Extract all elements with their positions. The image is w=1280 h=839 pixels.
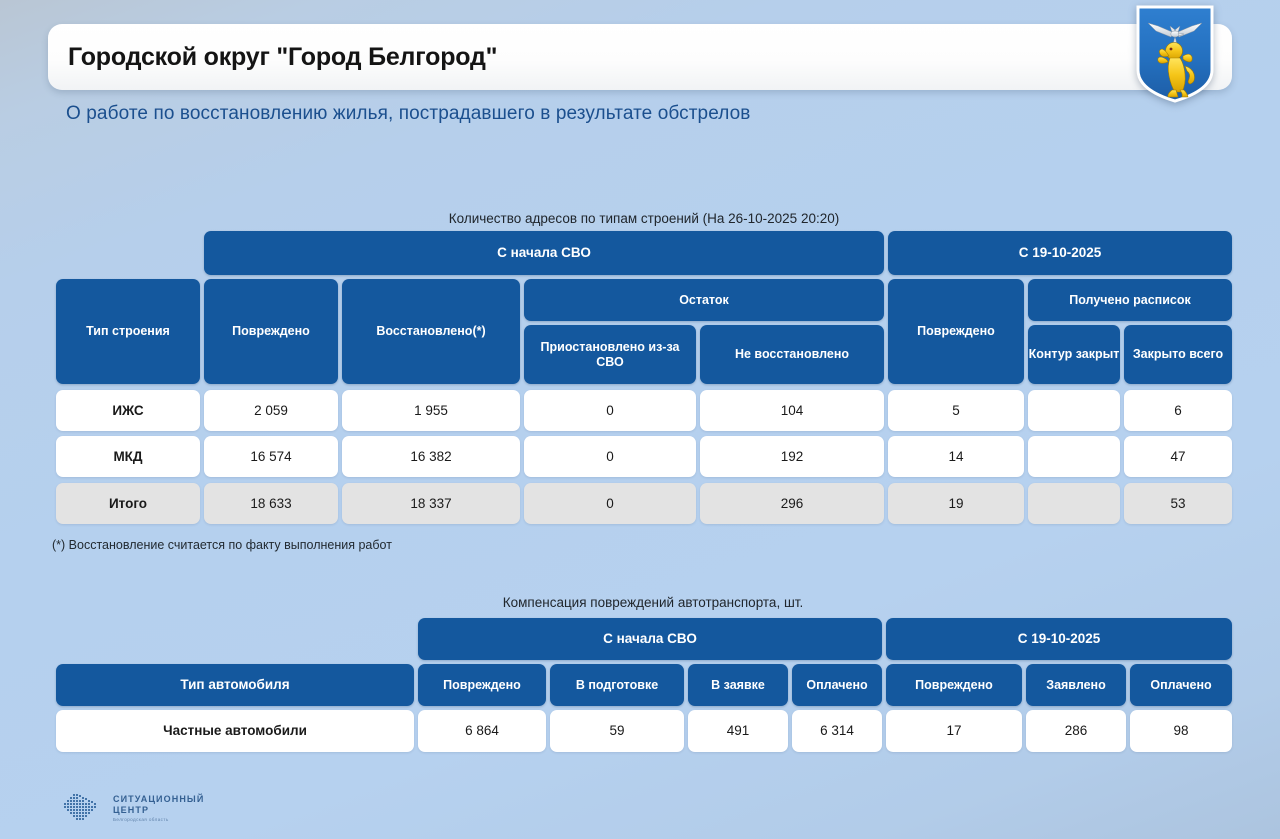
footer-logo-sub: Белгородская область xyxy=(113,817,204,822)
table-row: 18 337 xyxy=(342,483,520,524)
vehicles-table-caption: Компенсация повреждений автотранспорта, … xyxy=(470,595,836,610)
table-row: Частные автомобили xyxy=(56,710,414,752)
table-row: 47 xyxy=(1124,436,1232,477)
region-map-icon xyxy=(60,792,104,824)
buildings-col-damaged-recent: Повреждено xyxy=(888,279,1024,384)
table-row: 5 xyxy=(888,390,1024,431)
page-header-bar: Городской округ "Город Белгород" xyxy=(48,24,1232,90)
page-subtitle: О работе по восстановлению жилья, постра… xyxy=(66,100,826,128)
table-row: 104 xyxy=(700,390,884,431)
buildings-col-restored: Восстановлено(*) xyxy=(342,279,520,384)
table-row: 192 xyxy=(700,436,884,477)
table-row: 286 xyxy=(1026,710,1126,752)
buildings-table-caption: Количество адресов по типам строений (На… xyxy=(424,211,864,226)
vehicles-col-in-preparation: В подготовке xyxy=(550,664,684,706)
buildings-col-not-restored: Не восстановлено xyxy=(700,325,884,384)
table-row xyxy=(1028,483,1120,524)
footer-logo-line1: СИТУАЦИОННЫЙ xyxy=(113,794,204,805)
table-row xyxy=(1028,390,1120,431)
table-row: 6 xyxy=(1124,390,1232,431)
buildings-table-footnote: (*) Восстановление считается по факту вы… xyxy=(52,538,392,552)
buildings-col-suspended: Приостановлено из-за СВО xyxy=(524,325,696,384)
table-row: 296 xyxy=(700,483,884,524)
table-row: 0 xyxy=(524,483,696,524)
buildings-col-receipts: Получено расписок xyxy=(1028,279,1232,321)
table-row: 17 xyxy=(886,710,1022,752)
vehicles-col-type: Тип автомобиля xyxy=(56,664,414,706)
vehicles-col-paid-recent: Оплачено xyxy=(1130,664,1232,706)
table-row: 16 574 xyxy=(204,436,338,477)
page-title: Городской округ "Город Белгород" xyxy=(68,43,497,72)
table-row: 98 xyxy=(1130,710,1232,752)
vehicles-col-damaged-recent: Повреждено xyxy=(886,664,1022,706)
table-row: 6 314 xyxy=(792,710,882,752)
buildings-group-since-svo: С начала СВО xyxy=(204,231,884,275)
vehicles-col-damaged: Повреждено xyxy=(418,664,546,706)
coat-of-arms-icon xyxy=(1134,4,1216,104)
footer-logo-text: СИТУАЦИОННЫЙ ЦЕНТР Белгородская область xyxy=(113,794,204,823)
table-row: 18 633 xyxy=(204,483,338,524)
table-row: Итого xyxy=(56,483,200,524)
table-row: 491 xyxy=(688,710,788,752)
vehicles-col-paid: Оплачено xyxy=(792,664,882,706)
table-row: 14 xyxy=(888,436,1024,477)
table-row: 6 864 xyxy=(418,710,546,752)
table-row: 0 xyxy=(524,390,696,431)
buildings-col-remainder: Остаток xyxy=(524,279,884,321)
table-row: 0 xyxy=(524,436,696,477)
buildings-col-type: Тип строения xyxy=(56,279,200,384)
vehicles-col-in-request: В заявке xyxy=(688,664,788,706)
buildings-col-contour-closed: Контур закрыт xyxy=(1028,325,1120,384)
table-row: 59 xyxy=(550,710,684,752)
buildings-col-damaged: Повреждено xyxy=(204,279,338,384)
table-row: 53 xyxy=(1124,483,1232,524)
table-row: 2 059 xyxy=(204,390,338,431)
buildings-col-closed-total: Закрыто всего xyxy=(1124,325,1232,384)
buildings-group-since-date: С 19-10-2025 xyxy=(888,231,1232,275)
table-row: 19 xyxy=(888,483,1024,524)
table-row: МКД xyxy=(56,436,200,477)
table-row: 1 955 xyxy=(342,390,520,431)
table-row xyxy=(1028,436,1120,477)
vehicles-col-declared: Заявлено xyxy=(1026,664,1126,706)
vehicles-group-since-date: С 19-10-2025 xyxy=(886,618,1232,660)
table-row: ИЖС xyxy=(56,390,200,431)
vehicles-group-since-svo: С начала СВО xyxy=(418,618,882,660)
footer-logo-line2: ЦЕНТР xyxy=(113,805,204,816)
table-row: 16 382 xyxy=(342,436,520,477)
footer-logo: СИТУАЦИОННЫЙ ЦЕНТР Белгородская область xyxy=(60,792,204,824)
